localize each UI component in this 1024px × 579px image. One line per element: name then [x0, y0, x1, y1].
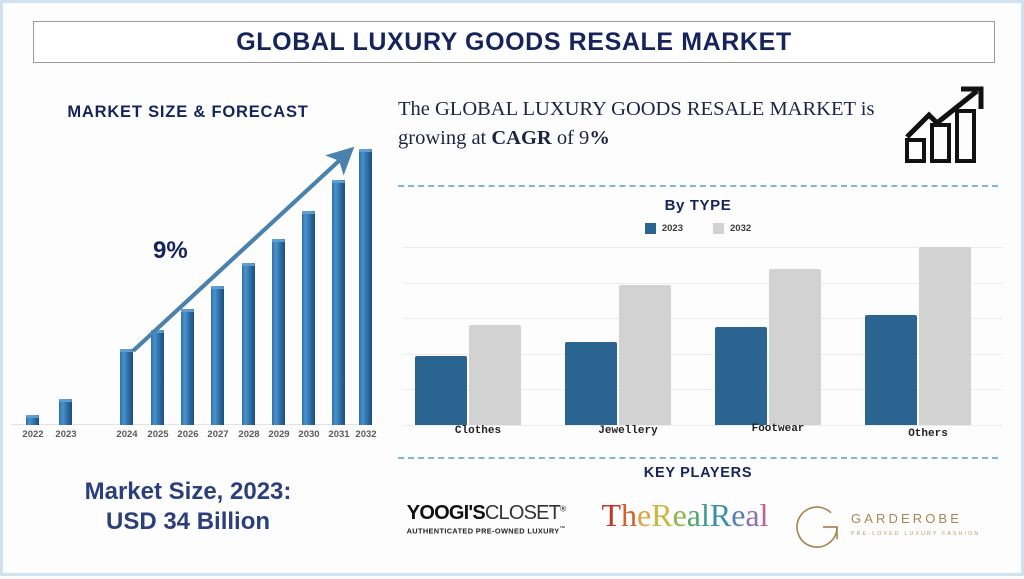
by-type-bar	[769, 269, 821, 425]
forecast-year-labels: 2022202320242025202620272028202920302031…	[11, 429, 367, 445]
market-size-callout: Market Size, 2023: USD 34 Billion	[3, 477, 373, 537]
legend-label: 2032	[730, 223, 751, 234]
divider-bottom	[398, 457, 998, 459]
infographic-page: GLOBAL LUXURY GOODS RESALE MARKET MARKET…	[0, 0, 1024, 576]
registered-mark-icon: ®	[560, 504, 565, 513]
key-players-title: KEY PLAYERS	[398, 465, 998, 481]
legend-swatch-icon	[713, 223, 724, 234]
forecast-year-label: 2022	[19, 429, 47, 440]
legend-label: 2023	[662, 223, 683, 234]
by-type-bar	[919, 247, 971, 425]
the-realreal-wordmark: TheRealReal	[590, 499, 780, 533]
yoogis-bold: YOOGI'S	[407, 502, 485, 524]
page-title: GLOBAL LUXURY GOODS RESALE MARKET	[236, 28, 791, 57]
by-type-legend: 20232032	[398, 223, 998, 234]
by-type-bar	[865, 315, 917, 425]
garderobe-g-monogram-icon	[793, 501, 845, 553]
market-size-forecast-chart	[11, 133, 367, 425]
legend-swatch-icon	[645, 223, 656, 234]
yoogis-closet-wordmark: YOOGI'SCLOSET®	[393, 503, 579, 523]
by-type-bar	[469, 325, 521, 425]
tagline-cagr: CAGR	[491, 127, 551, 149]
logo-garderobe: GARDEROBE PRE-LOVED LUXURY FASHION	[793, 497, 1009, 553]
forecast-year-label: 2031	[325, 429, 353, 440]
title-box: GLOBAL LUXURY GOODS RESALE MARKET	[33, 21, 995, 63]
garderobe-name: GARDEROBE	[851, 511, 1007, 526]
forecast-bar	[359, 149, 372, 425]
yoogis-tagline-text: AUTHENTICATED PRE-OWNED LUXURY	[407, 526, 560, 535]
by-type-category-label: Clothes	[403, 425, 553, 437]
forecast-year-label: 2023	[52, 429, 80, 440]
forecast-year-label: 2026	[174, 429, 202, 440]
legend-item: 2032	[713, 223, 751, 234]
forecast-bar	[211, 286, 224, 425]
garderobe-wordmark: GARDEROBE PRE-LOVED LUXURY FASHION	[851, 511, 1007, 537]
forecast-year-label: 2027	[204, 429, 232, 440]
growth-chart-icon	[901, 85, 999, 165]
forecast-year-label: 2030	[295, 429, 323, 440]
logo-yoogis-closet: YOOGI'SCLOSET® AUTHENTICATED PRE-OWNED L…	[393, 503, 579, 535]
forecast-year-label: 2024	[113, 429, 141, 440]
by-type-bar	[715, 327, 767, 425]
key-players-logos: YOOGI'SCLOSET® AUTHENTICATED PRE-OWNED L…	[385, 491, 1013, 561]
forecast-bar	[332, 180, 345, 425]
garderobe-tagline: PRE-LOVED LUXURY FASHION	[851, 531, 1007, 537]
market-size-forecast-panel: MARKET SIZE & FORECAST 9% 20222023202420…	[3, 65, 373, 579]
tagline-part-2: of 9	[552, 127, 590, 149]
tagline-part-1: The GLOBAL LUXURY GOODS RESALE MARKET is…	[398, 98, 874, 149]
market-tagline: The GLOBAL LUXURY GOODS RESALE MARKET is…	[398, 95, 918, 153]
market-size-line-1: Market Size, 2023:	[3, 477, 373, 507]
cagr-annotation-left: 9%	[153, 237, 188, 265]
forecast-bar	[272, 239, 285, 425]
realreal-letter: e	[673, 497, 687, 533]
forecast-year-label: 2025	[144, 429, 172, 440]
forecast-bar	[242, 263, 255, 425]
forecast-bar	[120, 349, 133, 425]
forecast-year-label: 2029	[265, 429, 293, 440]
realreal-letter: R	[710, 497, 731, 533]
by-type-category-labels: ClothesJewelleryFootwearOthers	[403, 425, 1003, 445]
yoogis-closet-tagline: AUTHENTICATED PRE-OWNED LUXURY™	[393, 526, 579, 535]
realreal-letter: e	[637, 497, 651, 533]
forecast-bar	[59, 399, 72, 425]
by-type-category-label: Others	[853, 428, 1003, 440]
forecast-year-label: 2028	[235, 429, 263, 440]
by-type-category-label: Footwear	[703, 423, 853, 435]
by-type-bar	[565, 342, 617, 425]
forecast-bar	[26, 415, 39, 425]
by-type-bar	[415, 356, 467, 425]
divider-top	[398, 185, 998, 187]
realreal-letter: a	[745, 497, 759, 533]
by-type-chart	[403, 247, 1003, 425]
closet-light: CLOSET	[485, 502, 560, 524]
market-size-forecast-heading: MARKET SIZE & FORECAST	[3, 103, 373, 122]
realreal-letter: a	[687, 497, 701, 533]
realreal-letter: l	[760, 497, 769, 533]
by-type-title: By TYPE	[398, 197, 998, 214]
forecast-bar	[181, 309, 194, 425]
right-panel: The GLOBAL LUXURY GOODS RESALE MARKET is…	[373, 65, 1024, 579]
realreal-letter: l	[701, 497, 710, 533]
logo-the-realreal: TheRealReal	[590, 499, 780, 533]
by-type-bar	[619, 285, 671, 425]
forecast-bar	[302, 211, 315, 425]
gridline	[403, 283, 1003, 284]
forecast-bar	[151, 330, 164, 425]
realreal-letter: h	[621, 497, 637, 533]
trademark-mark-icon: ™	[560, 526, 566, 532]
realreal-letter: e	[731, 497, 745, 533]
tagline-percent: %	[589, 127, 610, 149]
gridline	[403, 247, 1003, 248]
realreal-letter: T	[601, 497, 621, 533]
legend-item: 2023	[645, 223, 683, 234]
by-type-category-label: Jewellery	[553, 425, 703, 437]
realreal-letter: R	[651, 497, 672, 533]
market-size-line-2: USD 34 Billion	[3, 507, 373, 537]
